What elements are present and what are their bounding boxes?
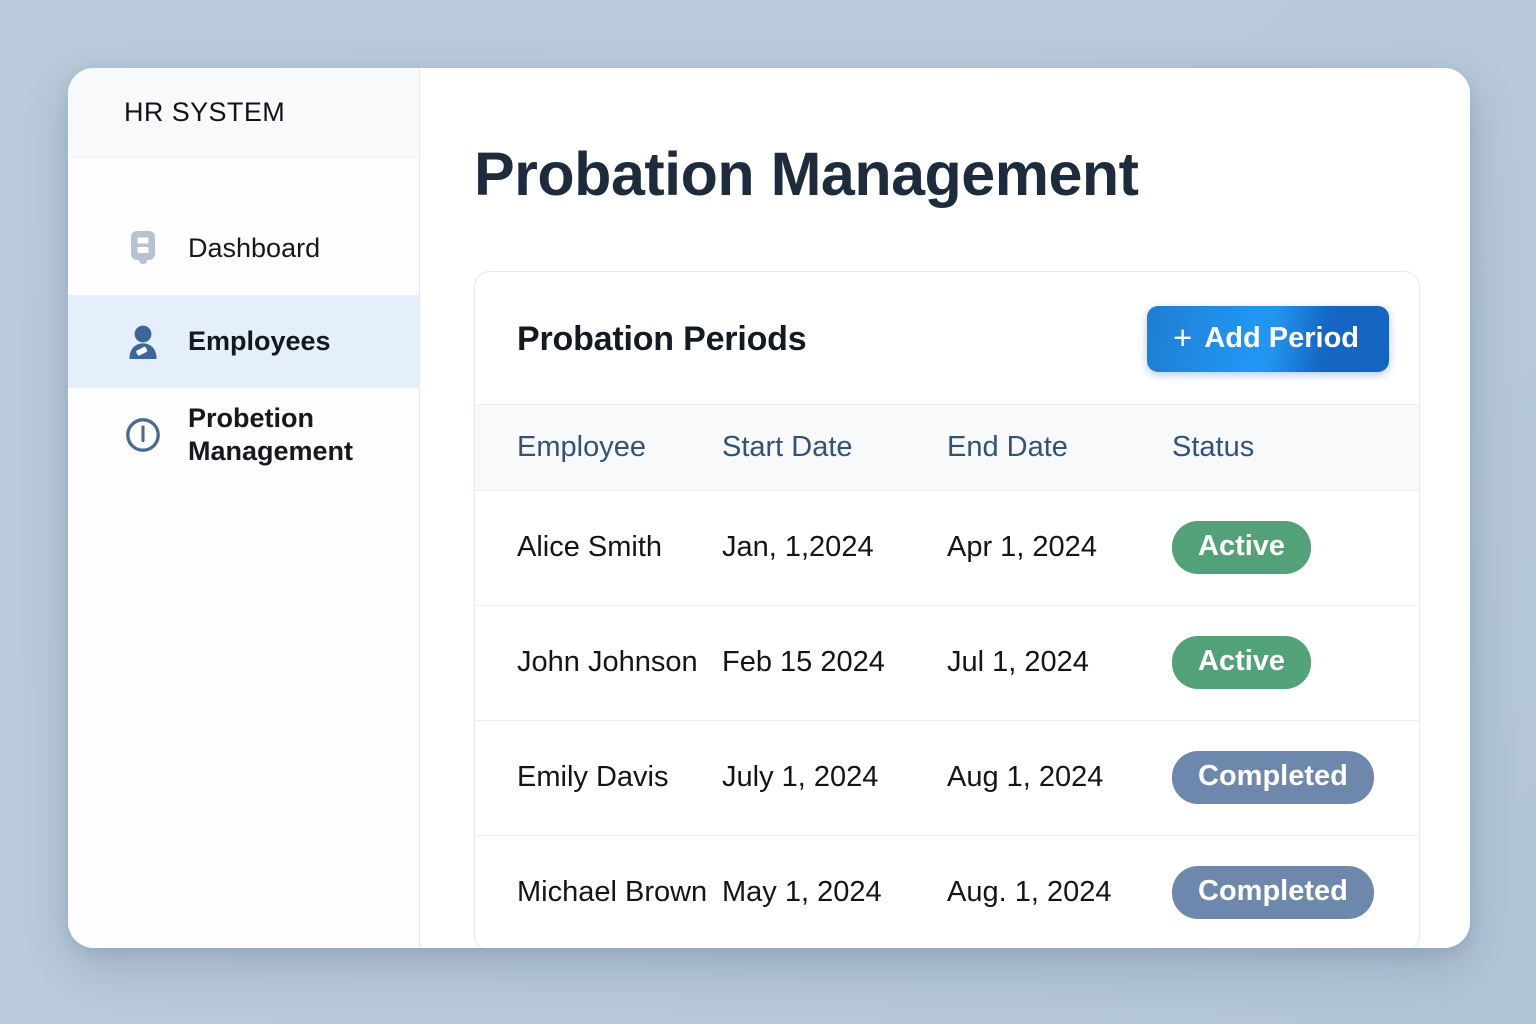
status-badge: Active xyxy=(1172,521,1311,574)
table-row[interactable]: Michael BrownMay 1, 2024Aug. 1, 2024Comp… xyxy=(475,836,1419,949)
sidebar-nav: Dashboard Employees xyxy=(68,158,419,481)
app-window: HR SYSTEM Dashboard xyxy=(68,68,1470,948)
user-icon xyxy=(124,322,162,362)
cell-end-date: Aug 1, 2024 xyxy=(947,721,1172,836)
status-badge: Completed xyxy=(1172,866,1374,919)
cell-employee: John Johnson xyxy=(475,606,722,721)
cell-status: Active xyxy=(1172,491,1419,606)
sidebar-item-dashboard[interactable]: Dashboard xyxy=(68,202,419,295)
cell-status: Active xyxy=(1172,606,1419,721)
column-header-end-date[interactable]: End Date xyxy=(947,405,1172,491)
add-period-button[interactable]: + Add Period xyxy=(1147,306,1389,372)
sidebar: HR SYSTEM Dashboard xyxy=(68,68,420,948)
cell-end-date: Apr 1, 2024 xyxy=(947,491,1172,606)
cell-start-date: July 1, 2024 xyxy=(722,721,947,836)
sidebar-brand: HR SYSTEM xyxy=(68,68,419,158)
column-header-start-date[interactable]: Start Date xyxy=(722,405,947,491)
cell-status: Completed xyxy=(1172,836,1419,949)
dashboard-icon xyxy=(124,229,162,269)
cell-employee: Emily Davis xyxy=(475,721,722,836)
status-badge: Active xyxy=(1172,636,1311,689)
probation-periods-table: Employee Start Date End Date Status Alic… xyxy=(475,404,1419,948)
card-header: Probation Periods + Add Period xyxy=(475,272,1419,404)
cell-employee: Alice Smith xyxy=(475,491,722,606)
sidebar-item-label: Probetion Management xyxy=(188,402,399,468)
cell-end-date: Jul 1, 2024 xyxy=(947,606,1172,721)
brand-title: HR SYSTEM xyxy=(124,97,285,128)
cell-end-date: Aug. 1, 2024 xyxy=(947,836,1172,949)
table-body: Alice SmithJan, 1,2024Apr 1, 2024ActiveJ… xyxy=(475,491,1419,949)
probation-periods-card: Probation Periods + Add Period Employee … xyxy=(474,271,1420,948)
sidebar-item-label: Dashboard xyxy=(188,232,320,265)
sidebar-item-label: Employees xyxy=(188,325,331,358)
table-row[interactable]: John JohnsonFeb 15 2024Jul 1, 2024Active xyxy=(475,606,1419,721)
table-row[interactable]: Alice SmithJan, 1,2024Apr 1, 2024Active xyxy=(475,491,1419,606)
cell-start-date: Jan, 1,2024 xyxy=(722,491,947,606)
page-title: Probation Management xyxy=(474,144,1420,205)
add-period-label: Add Period xyxy=(1204,324,1359,353)
sidebar-item-employees[interactable]: Employees xyxy=(68,295,419,388)
main-content: Probation Management Probation Periods +… xyxy=(420,68,1470,948)
status-badge: Completed xyxy=(1172,751,1374,804)
table-header-row: Employee Start Date End Date Status xyxy=(475,405,1419,491)
cell-start-date: May 1, 2024 xyxy=(722,836,947,949)
table-header: Employee Start Date End Date Status xyxy=(475,405,1419,491)
clock-alert-icon xyxy=(124,415,162,455)
cell-start-date: Feb 15 2024 xyxy=(722,606,947,721)
cell-employee: Michael Brown xyxy=(475,836,722,949)
column-header-status[interactable]: Status xyxy=(1172,405,1419,491)
plus-icon: + xyxy=(1173,321,1192,354)
card-title: Probation Periods xyxy=(517,320,806,359)
table-row[interactable]: Emily DavisJuly 1, 2024Aug 1, 2024Comple… xyxy=(475,721,1419,836)
column-header-employee[interactable]: Employee xyxy=(475,405,722,491)
sidebar-item-probation-management[interactable]: Probetion Management xyxy=(68,388,419,481)
cell-status: Completed xyxy=(1172,721,1419,836)
